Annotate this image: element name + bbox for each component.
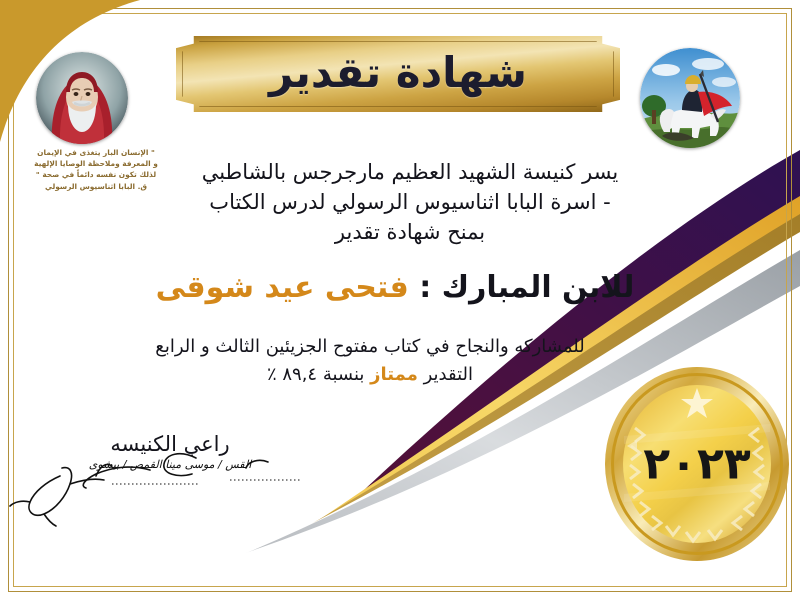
certificate-canvas: " الإنسان البار يتغذى في الإيمان و المعر… <box>0 0 800 600</box>
signature-names: القس / موسى مينا القمص / بيشوى <box>20 458 320 471</box>
recipient-name: فتحى عيد شوقى <box>156 270 409 305</box>
certificate-body-text: يسر كنيسة الشهيد العظيم مارجرجس بالشاطبي… <box>150 158 670 247</box>
body-line-2: - اسرة البابا اثناسيوس الرسولي لدرس الكت… <box>150 188 670 218</box>
quote-attribution: ق. البابا اثناسيوس الرسولي <box>8 182 184 193</box>
body-line-1: يسر كنيسة الشهيد العظيم مارجرجس بالشاطبي <box>150 158 670 188</box>
certificate-details: للمشاركه والنجاح في كتاب مفتوح الجزيئين … <box>110 333 630 389</box>
recipient-prefix: للابن المبارك : <box>419 270 634 305</box>
signature-title: راعي الكنيسه <box>20 432 320 456</box>
quote-block: " الإنسان البار يتغذى في الإيمان و المعر… <box>8 148 184 193</box>
year-value: ٢٠٢٣ <box>604 439 790 490</box>
year-medal-badge: ٢٠٢٣ <box>604 366 790 562</box>
saint-george-on-horse-icon <box>640 48 740 148</box>
detail-grade-line: التقدير ممتاز بنسبة ٨٩,٤ ٪ <box>110 361 630 389</box>
certificate-title-banner: شهادة تقدير <box>176 36 620 112</box>
page-title: شهادة تقدير <box>269 48 527 101</box>
detail-reason: للمشاركه والنجاح في كتاب مفتوح الجزيئين … <box>110 333 630 361</box>
score-value: ٨٩,٤ <box>282 364 317 385</box>
score-prefix-label: بنسبة <box>323 364 365 385</box>
quote-line-2: و المعرفة وملاحظة الوصايا الإلهية <box>8 159 184 170</box>
grade-value: ممتاز <box>370 364 418 385</box>
body-line-3: بمنح شهادة تقدير <box>150 218 670 248</box>
recipient-line: للابن المبارك : فتحى عيد شوقى <box>130 270 660 305</box>
percent-symbol: ٪ <box>267 364 277 385</box>
quote-line-1: " الإنسان البار يتغذى في الإيمان <box>8 148 184 159</box>
signature-block: راعي الكنيسه القس / موسى مينا القمص / بي… <box>20 432 320 471</box>
saint-athanasius-portrait-icon <box>36 52 128 144</box>
grade-prefix-label: التقدير <box>424 364 473 385</box>
quote-line-3: لذلك تكون نفسه دائماً في صحة " <box>8 170 184 181</box>
